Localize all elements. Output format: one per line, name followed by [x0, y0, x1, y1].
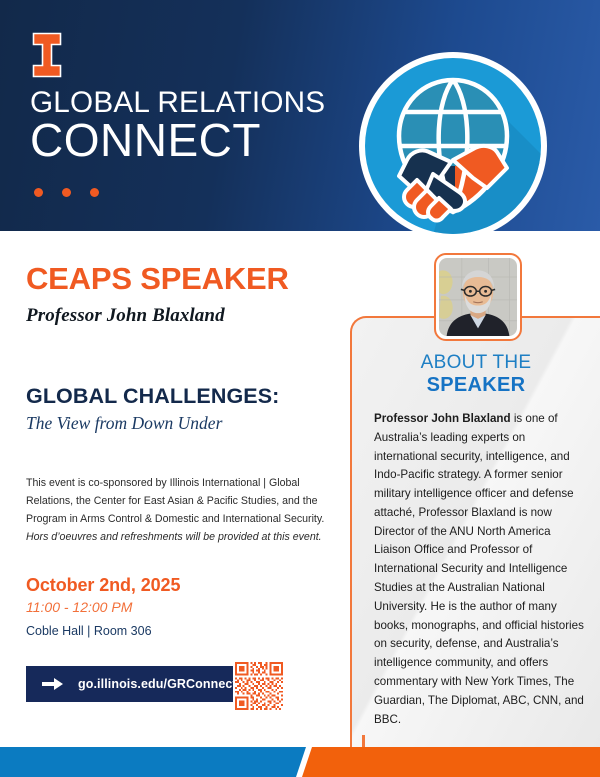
- event-time: 11:00 - 12:00 PM: [26, 599, 344, 615]
- speaker-bio: Professor John Blaxland is one of Austra…: [374, 410, 584, 729]
- wordmark: GLOBAL RELATIONS CONNECT: [30, 88, 360, 163]
- refreshments-note: Hors d’oeuvres and refreshments will be …: [26, 528, 338, 546]
- decorative-dots: [34, 188, 99, 197]
- speaker-name: Professor John Blaxland: [26, 305, 344, 327]
- about-heading-line-1: ABOUT THE: [352, 352, 600, 374]
- cta-block: go.illinois.edu/GRConnect: [26, 660, 326, 716]
- about-speaker-panel: ABOUT THE SPEAKER Professor John Blaxlan…: [350, 316, 600, 747]
- about-heading-line-2: SPEAKER: [352, 374, 600, 398]
- arrow-right-icon: [42, 676, 64, 692]
- headshot-image: [439, 258, 517, 336]
- about-heading: ABOUT THE SPEAKER: [352, 352, 600, 398]
- wordmark-line-2: CONNECT: [30, 117, 360, 163]
- sponsor-text-block: This event is co-sponsored by Illinois I…: [26, 474, 338, 547]
- series-label: CEAPS SPEAKER: [26, 263, 344, 296]
- talk-title: GLOBAL CHALLENGES:: [26, 384, 344, 409]
- poster-footer: [0, 747, 600, 777]
- event-details-column: CEAPS SPEAKER Professor John Blaxland GL…: [26, 231, 344, 716]
- illinois-block-i-icon: [32, 32, 62, 78]
- wordmark-line-1: GLOBAL RELATIONS: [30, 88, 357, 119]
- globe-handshake-icon: [355, 48, 551, 244]
- speaker-headshot: [434, 253, 522, 341]
- registration-url-text: go.illinois.edu/GRConnect: [78, 677, 237, 691]
- bio-body: is one of Australia’s leading experts on…: [374, 412, 584, 726]
- poster-header: GLOBAL RELATIONS CONNECT: [0, 0, 600, 231]
- talk-subtitle: The View from Down Under: [26, 413, 344, 434]
- bio-lead-name: Professor John Blaxland: [374, 412, 511, 425]
- event-date: October 2nd, 2025: [26, 575, 344, 596]
- dot-icon: [90, 188, 99, 197]
- dot-icon: [34, 188, 43, 197]
- event-location: Coble Hall | Room 306: [26, 624, 344, 638]
- dot-icon: [62, 188, 71, 197]
- qr-code-icon[interactable]: [233, 660, 285, 712]
- sponsor-text: This event is co-sponsored by Illinois I…: [26, 477, 324, 525]
